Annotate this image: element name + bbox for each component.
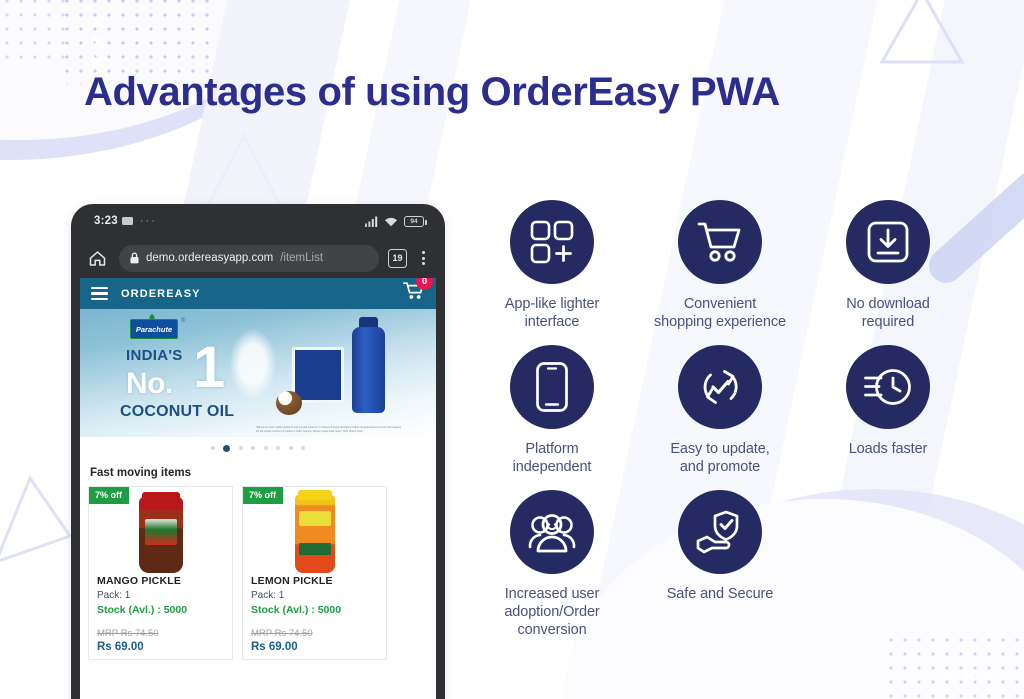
advantage-app-like-lighter-interface[interactable]: App-like lighterinterface (468, 200, 636, 332)
browser-toolbar: demo.ordereasyapp.com/itemList 19 (80, 238, 436, 278)
decor-dots-top-left-edge (0, 0, 70, 64)
advantage-no-download-required[interactable]: No downloadrequired (804, 200, 972, 332)
banner-product-bottle (352, 327, 385, 413)
advantages-row-3: Increased useradoption/Orderconversion S… (468, 490, 1014, 640)
signal-bars-icon (365, 216, 378, 227)
carousel-dot[interactable] (251, 446, 255, 450)
lock-icon (130, 252, 139, 264)
decor-x-mark-icon: ✕ (981, 668, 997, 687)
product-card[interactable]: 7% off LEMON PICKLE Pack: 1 Stock (Avl.)… (242, 486, 387, 660)
page-title: Advantages of using OrderEasy PWA (84, 70, 780, 115)
advantages-row-3-spacer (804, 490, 972, 640)
decor-dots-bottom-right (884, 633, 1024, 699)
infographic-canvas: ✕ ✕ ✕ ✕ ✕ ✕ Advantages of using OrderEas… (0, 0, 1024, 699)
advantage-label: Safe and Secure (667, 585, 774, 603)
advantages-grid: App-like lighterinterface Convenientshop… (468, 200, 1014, 640)
app-header: ORDEREASY 0 (80, 278, 436, 309)
product-name: MANGO PICKLE (89, 573, 232, 587)
shopping-cart-icon (678, 200, 762, 284)
advantage-safe-and-secure[interactable]: Safe and Secure (636, 490, 804, 640)
advantage-label: Increased useradoption/Orderconversion (504, 585, 599, 640)
users-group-icon (510, 490, 594, 574)
section-title: Fast moving items (80, 459, 436, 486)
advantage-label: Easy to update,and promote (670, 440, 769, 477)
advantage-label: App-like lighterinterface (505, 295, 599, 332)
smartphone-icon (510, 345, 594, 429)
phone-mockup: 3:23 ··· 94 (71, 204, 445, 699)
water-splash-decor (230, 329, 276, 399)
product-pack: Pack: 1 (243, 587, 386, 601)
carousel-dot[interactable] (301, 446, 305, 450)
product-name: LEMON PICKLE (243, 573, 386, 587)
address-bar[interactable]: demo.ordereasyapp.com/itemList (119, 245, 379, 272)
advantage-increased-user-adoption[interactable]: Increased useradoption/Orderconversion (468, 490, 636, 640)
phone-status-bar: 3:23 ··· 94 (80, 204, 436, 238)
advantage-loads-faster[interactable]: Loads faster (804, 345, 972, 477)
product-list: 7% off MANGO PICKLE Pack: 1 Stock (Avl.)… (80, 486, 436, 660)
status-bar-clock: 3:23 (94, 215, 118, 227)
advantage-easy-to-update-and-promote[interactable]: Easy to update,and promote (636, 345, 804, 477)
home-icon[interactable] (84, 250, 110, 266)
banner-product-pouch (292, 347, 344, 403)
banner-line-2: No. (126, 367, 173, 401)
product-mrp: MRP Rs 74.50 (243, 616, 386, 639)
decor-x-mark-icon: ✕ (961, 668, 977, 687)
banner-fine-print: *Based on total market research and on s… (256, 426, 404, 434)
banner-big-number: 1 (193, 339, 225, 397)
web-app-viewport: ORDEREASY 0 Parachute (80, 278, 436, 699)
product-price: Rs 69.00 (89, 639, 232, 653)
battery-icon: 94 (404, 216, 424, 227)
product-mrp: MRP Rs 74.50 (89, 616, 232, 639)
hamburger-menu-icon[interactable] (91, 287, 108, 300)
carousel-dot-active[interactable] (223, 445, 230, 452)
product-price: Rs 69.00 (243, 639, 386, 653)
advantage-label: Loads faster (849, 440, 928, 458)
decor-triangle-top-right (876, 0, 968, 76)
speed-clock-icon (846, 345, 930, 429)
banner-line-3: COCONUT OIL (120, 403, 234, 421)
banner-line-1: INDIA'S (126, 347, 183, 364)
carousel-dot[interactable] (239, 446, 243, 450)
wifi-icon (384, 216, 398, 227)
advantage-convenient-shopping-experience[interactable]: Convenientshopping experience (636, 200, 804, 332)
coconut-icon (276, 391, 302, 415)
carousel-dot[interactable] (264, 446, 268, 450)
advantages-row-2: Platformindependent Easy to update,and p… (468, 345, 1014, 477)
refresh-check-icon (678, 345, 762, 429)
carousel-dot[interactable] (276, 446, 280, 450)
decor-triangle-bottom-left (0, 470, 78, 570)
product-pack: Pack: 1 (89, 587, 232, 601)
advantage-label: Platformindependent (513, 440, 592, 477)
cart-badge-count: 0 (416, 278, 433, 290)
product-stock: Stock (Avl.) : 5000 (89, 601, 232, 616)
registered-mark: ® (181, 318, 185, 324)
decor-x-mark-icon: ✕ (90, 14, 106, 33)
advantage-label: No downloadrequired (846, 295, 930, 332)
carousel-pagination[interactable] (80, 437, 436, 459)
decor-x-mark-icon: ✕ (90, 34, 106, 53)
address-bar-host: demo.ordereasyapp.com (146, 252, 273, 264)
status-bar-notification-icon (122, 217, 133, 225)
carousel-dot[interactable] (289, 446, 293, 450)
status-bar-overflow-icon: ··· (140, 215, 157, 227)
advantages-row-1: App-like lighterinterface Convenientshop… (468, 200, 1014, 332)
grid-add-icon (510, 200, 594, 284)
download-box-icon (846, 200, 930, 284)
banner-brand-logo: Parachute (130, 319, 178, 339)
address-bar-path: /itemList (280, 252, 323, 264)
product-card[interactable]: 7% off MANGO PICKLE Pack: 1 Stock (Avl.)… (88, 486, 233, 660)
product-stock: Stock (Avl.) : 5000 (243, 601, 386, 616)
cart-button[interactable]: 0 (403, 282, 426, 305)
banner-brand-name: Parachute (136, 325, 172, 334)
tab-switcher-button[interactable]: 19 (388, 249, 407, 268)
discount-badge: 7% off (89, 487, 129, 504)
kebab-menu-icon[interactable] (416, 251, 430, 265)
advantage-platform-independent[interactable]: Platformindependent (468, 345, 636, 477)
advantage-label: Convenientshopping experience (654, 295, 786, 332)
decor-x-mark-icon: ✕ (941, 668, 957, 687)
shield-hand-icon (678, 490, 762, 574)
promo-banner[interactable]: Parachute ® INDIA'S No. 1 COCONUT OIL *B… (80, 309, 436, 437)
carousel-dot[interactable] (211, 446, 215, 450)
app-brand-label: ORDEREASY (121, 288, 201, 300)
discount-badge: 7% off (243, 487, 283, 504)
